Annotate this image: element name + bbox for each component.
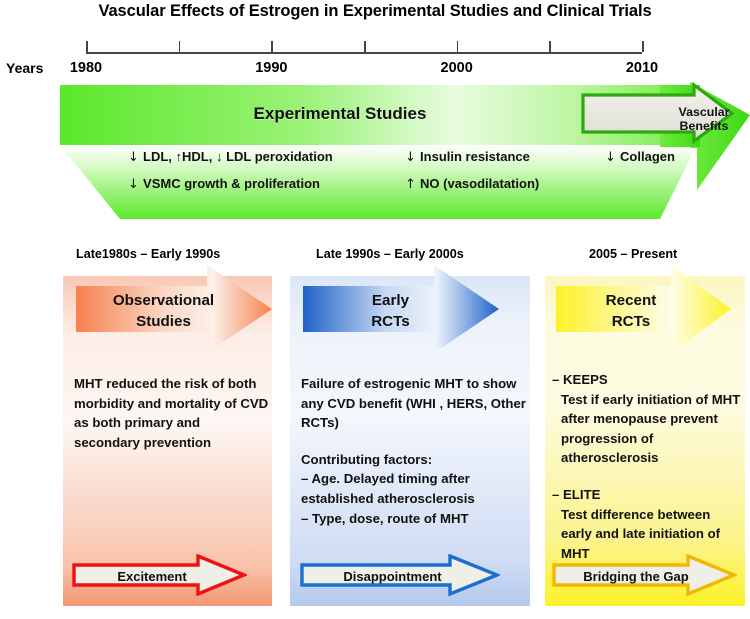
timeline-tick-2005	[549, 41, 551, 52]
bullet-column-2: ↓ Insulin resistance↑ NO (vasodilatation…	[405, 144, 539, 198]
arrow-label-line: Early	[303, 290, 478, 311]
footer-label-2: Disappointment	[300, 569, 485, 584]
body-paragraph: Test if early initiation of MHT after me…	[552, 390, 742, 468]
footer-label-3: Bridging the Gap	[552, 569, 720, 584]
period-label-3: 2005 – Present	[589, 247, 677, 261]
body-paragraph: – Age. Delayed timing after established …	[301, 469, 529, 508]
experimental-heading: Experimental Studies	[254, 104, 427, 124]
body-paragraph: – KEEPS	[552, 370, 742, 390]
body-paragraph: Failure of estrogenic MHT to show any CV…	[301, 374, 529, 433]
arrow-label-line: RCTs	[556, 311, 706, 332]
up-arrow-icon: ↑	[405, 177, 420, 192]
timeline-year-1990: 1990	[255, 60, 287, 76]
experimental-heading-wrap: Experimental Studies	[60, 96, 750, 132]
bullet-line: ↓ LDL, ↑HDL, ↓ LDL peroxidation	[128, 144, 333, 171]
footer-label-1: Excitement	[72, 569, 232, 584]
experimental-studies-band: Experimental Studies Vascular Benefits ↓…	[60, 82, 750, 222]
timeline-year-2010: 2010	[626, 60, 658, 76]
experimental-bullets: ↓ LDL, ↑HDL, ↓ LDL peroxidation↓ VSMC gr…	[60, 142, 750, 204]
bullet-line: ↑ NO (vasodilatation)	[405, 171, 539, 198]
body-paragraph: – ELITE	[552, 485, 742, 505]
timeline-tick-2000	[457, 41, 459, 52]
body-text-observational: MHT reduced the risk of both morbidity a…	[74, 374, 269, 452]
down-arrow-icon: ↓	[128, 150, 143, 165]
arrow-label-line: RCTs	[303, 311, 478, 332]
bullet-line: ↓ Collagen	[605, 144, 675, 171]
page-title: Vascular Effects of Estrogen in Experime…	[0, 2, 750, 21]
timeline-tick-2010	[642, 41, 644, 52]
arrow-label-line: Studies	[76, 311, 251, 332]
period-label-2: Late 1990s – Early 2000s	[316, 247, 464, 261]
timeline-year-1980: 1980	[70, 60, 102, 76]
years-axis-label: Years	[6, 60, 43, 76]
arrow-label-line: Recent	[556, 290, 706, 311]
arrow-label-line: Observational	[76, 290, 251, 311]
body-paragraph: Contributing factors:	[301, 450, 529, 470]
timeline-tick-1990	[271, 41, 273, 52]
body-paragraph: MHT reduced the risk of both morbidity a…	[74, 374, 269, 452]
down-arrow-icon: ↓	[405, 150, 420, 165]
big-arrow-label-2: EarlyRCTs	[303, 290, 478, 332]
body-text-early-rcts: Failure of estrogenic MHT to show any CV…	[301, 374, 529, 528]
body-paragraph: – Type, dose, route of MHT	[301, 509, 529, 529]
bullet-line: ↓ VSMC growth & proliferation	[128, 171, 333, 198]
diagram-canvas: Vascular Effects of Estrogen in Experime…	[0, 0, 750, 619]
down-arrow-icon: ↓	[128, 177, 143, 192]
timeline-axis	[86, 52, 642, 54]
bullet-line: ↓ Insulin resistance	[405, 144, 539, 171]
big-arrow-label-3: RecentRCTs	[556, 290, 706, 332]
bullet-column-3: ↓ Collagen	[605, 144, 675, 171]
timeline-tick-1985	[179, 41, 181, 52]
timeline-tick-1980	[86, 41, 88, 52]
timeline-tick-1995	[364, 41, 366, 52]
bullet-column-1: ↓ LDL, ↑HDL, ↓ LDL peroxidation↓ VSMC gr…	[128, 144, 333, 198]
down-arrow-icon: ↓	[605, 150, 620, 165]
vascular-benefits-label: Vascular Benefits	[654, 105, 750, 133]
big-arrow-label-1: ObservationalStudies	[76, 290, 251, 332]
body-text-recent-rcts: – KEEPSTest if early initiation of MHT a…	[552, 370, 742, 563]
timeline-year-2000: 2000	[441, 60, 473, 76]
period-label-1: Late1980s – Early 1990s	[76, 247, 220, 261]
